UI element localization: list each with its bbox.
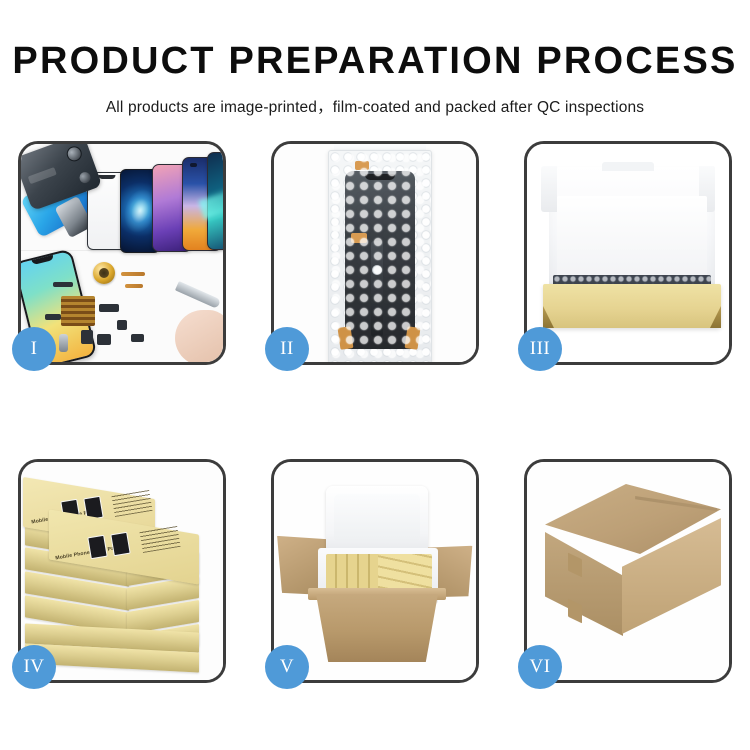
page-subtitle: All products are image-printed，film-coat… bbox=[0, 95, 750, 117]
screen-assembly-icon bbox=[345, 171, 415, 349]
speaker-coil-icon bbox=[93, 262, 115, 284]
step-badge-4: IV bbox=[12, 645, 56, 689]
tape-icon bbox=[405, 326, 421, 350]
camera-punch-icon bbox=[190, 163, 197, 167]
tape-icon bbox=[351, 233, 367, 243]
box-stack-illustration: Mobile Phone Spare Parts Mobile Phone Sp… bbox=[21, 462, 223, 680]
carton-packing-illustration bbox=[274, 462, 476, 680]
lid-flap-left-icon bbox=[541, 166, 557, 212]
box-yellow-tray-icon bbox=[543, 284, 721, 328]
flex-cable-icon bbox=[125, 284, 143, 288]
step-1-image bbox=[21, 144, 223, 362]
process-step-card-2: II bbox=[271, 141, 479, 365]
small-part-icon bbox=[131, 334, 144, 342]
connector-icon bbox=[372, 265, 382, 275]
step-badge-2: II bbox=[265, 327, 309, 371]
tray-edge-right-icon bbox=[710, 306, 721, 328]
small-part-icon bbox=[117, 320, 127, 330]
process-steps-grid: I bbox=[18, 141, 732, 683]
step-3-image bbox=[527, 144, 729, 362]
process-step-card-3: III bbox=[524, 141, 732, 365]
carton-body-icon bbox=[316, 594, 438, 662]
connector-grid-icon bbox=[61, 296, 95, 326]
process-step-card-5: V bbox=[271, 459, 479, 683]
tray-edge-left-icon bbox=[543, 306, 554, 328]
sim-tray-icon bbox=[59, 334, 68, 352]
small-part-icon bbox=[81, 330, 93, 344]
bubble-wrap-illustration bbox=[274, 144, 476, 362]
tweezers-icon bbox=[175, 281, 221, 309]
notch-icon bbox=[99, 175, 116, 179]
phone-screen-teal-icon bbox=[207, 152, 223, 250]
sealed-carton-illustration bbox=[527, 462, 729, 680]
bubble-bag-icon bbox=[328, 150, 432, 362]
flex-cable-icon bbox=[371, 241, 383, 337]
tape-icon bbox=[355, 161, 369, 170]
step-badge-1: I bbox=[12, 327, 56, 371]
camera-lens-secondary-icon bbox=[78, 171, 92, 185]
product-swatch-icon bbox=[110, 532, 130, 557]
step-badge-6: VI bbox=[518, 645, 562, 689]
small-part-icon bbox=[99, 304, 119, 312]
page-header: PRODUCT PREPARATION PROCESS All products… bbox=[0, 0, 750, 117]
flex-cable-icon bbox=[121, 272, 145, 276]
small-part-icon bbox=[53, 282, 73, 287]
product-preparation-process-page: PRODUCT PREPARATION PROCESS All products… bbox=[0, 0, 750, 750]
process-step-card-4: Mobile Phone Spare Parts Mobile Phone Sp… bbox=[18, 459, 226, 683]
small-part-icon bbox=[45, 314, 61, 320]
inner-box-illustration bbox=[527, 144, 729, 362]
process-step-card-1: I bbox=[18, 141, 226, 365]
product-swatch-icon bbox=[87, 535, 107, 560]
housing-strip-icon bbox=[28, 167, 57, 184]
foam-lid-icon bbox=[326, 486, 428, 554]
small-part-icon bbox=[97, 334, 111, 345]
step-6-image bbox=[527, 462, 729, 680]
camera-lens-icon bbox=[65, 144, 84, 163]
hand-icon bbox=[175, 310, 223, 362]
carton-left-face bbox=[545, 532, 623, 636]
notch-icon bbox=[32, 255, 55, 265]
step-2-image bbox=[274, 144, 476, 362]
step-5-image bbox=[274, 462, 476, 680]
step-4-image: Mobile Phone Spare Parts Mobile Phone Sp… bbox=[21, 462, 223, 680]
process-step-card-6: VI bbox=[524, 459, 732, 683]
step-badge-3: III bbox=[518, 327, 562, 371]
page-title: PRODUCT PREPARATION PROCESS bbox=[0, 42, 750, 82]
box-stack: Mobile Phone Spare Parts Mobile Phone Sp… bbox=[21, 484, 223, 666]
lid-tab-icon bbox=[602, 162, 654, 171]
step-badge-5: V bbox=[265, 645, 309, 689]
foam-lining-icon bbox=[557, 196, 707, 280]
phone-parts-illustration bbox=[21, 144, 223, 362]
